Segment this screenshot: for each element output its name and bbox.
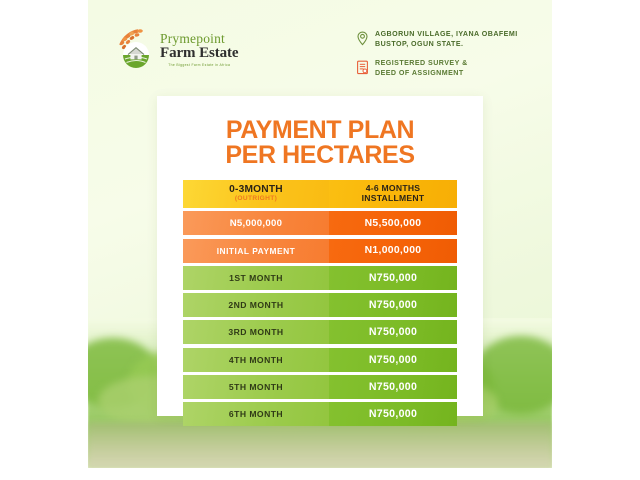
table-row: 1ST MONTHN750,000 <box>183 266 457 290</box>
location-line1: AGBORUN VILLAGE, IYANA OBAFEMI <box>375 30 518 40</box>
document-line1: REGISTERED SURVEY & <box>375 59 468 69</box>
page-title-line2: PER HECTARES <box>157 143 483 168</box>
row-value-cell: N750,000 <box>329 402 457 426</box>
location-text: AGBORUN VILLAGE, IYANA OBAFEMI BUSTOP, O… <box>375 30 518 49</box>
brand-logo-block: Prymepoint Farm Estate The Biggest Farm … <box>114 26 238 70</box>
header-outright-sub: (OUTRIGHT) <box>235 196 277 203</box>
header-cell-outright: 0-3MONTH (OUTRIGHT) <box>183 180 329 208</box>
poster-header: Prymepoint Farm Estate The Biggest Farm … <box>88 0 552 96</box>
contact-info-block: AGBORUN VILLAGE, IYANA OBAFEMI BUSTOP, O… <box>356 30 542 88</box>
row-label-cell: 3RD MONTH <box>183 320 329 344</box>
table-row: 5TH MONTHN750,000 <box>183 375 457 399</box>
farm-estate-logo-icon <box>114 26 158 70</box>
table-body: N5,000,000N5,500,000INITIAL PAYMENTN1,00… <box>183 211 457 426</box>
table-row: 2ND MONTHN750,000 <box>183 293 457 317</box>
page-title-line1: PAYMENT PLAN <box>226 116 414 144</box>
header-outright-main: 0-3MONTH <box>229 185 283 195</box>
row-label-cell: 4TH MONTH <box>183 348 329 372</box>
row-value-cell: N750,000 <box>329 293 457 317</box>
table-row: INITIAL PAYMENTN1,000,000 <box>183 239 457 263</box>
document-row: REGISTERED SURVEY & DEED OF ASSIGNMENT <box>356 59 542 78</box>
document-certificate-icon <box>356 60 369 75</box>
row-value-cell: N5,500,000 <box>329 211 457 235</box>
table-row: N5,000,000N5,500,000 <box>183 211 457 235</box>
row-label-cell: 6TH MONTH <box>183 402 329 426</box>
row-label-cell: N5,000,000 <box>183 211 329 235</box>
location-line2: BUSTOP, OGUN STATE. <box>375 40 518 50</box>
row-label-cell: INITIAL PAYMENT <box>183 239 329 263</box>
page-title: PAYMENT PLAN PER HECTARES <box>157 96 483 168</box>
payment-plan-card: PAYMENT PLAN PER HECTARES 0-3MONTH (OUTR… <box>157 96 483 416</box>
table-row: 6TH MONTHN750,000 <box>183 402 457 426</box>
location-row: AGBORUN VILLAGE, IYANA OBAFEMI BUSTOP, O… <box>356 30 542 49</box>
brand-tagline: The Biggest Farm Estate in Africa <box>160 63 238 67</box>
payment-plan-table: 0-3MONTH (OUTRIGHT) 4-6 MONTHS INSTALLME… <box>183 180 457 430</box>
row-value-cell: N750,000 <box>329 348 457 372</box>
payment-plan-poster: Prymepoint Farm Estate The Biggest Farm … <box>88 0 552 468</box>
table-header-row: 0-3MONTH (OUTRIGHT) 4-6 MONTHS INSTALLME… <box>183 180 457 208</box>
row-value-cell: N750,000 <box>329 375 457 399</box>
document-line2: DEED OF ASSIGNMENT <box>375 69 468 79</box>
header-installment-line2: INSTALLMENT <box>362 194 425 204</box>
row-label-cell: 1ST MONTH <box>183 266 329 290</box>
table-row: 3RD MONTHN750,000 <box>183 320 457 344</box>
brand-name-block: Prymepoint Farm Estate The Biggest Farm … <box>160 26 238 67</box>
row-value-cell: N1,000,000 <box>329 239 457 263</box>
table-row: 4TH MONTHN750,000 <box>183 348 457 372</box>
brand-name-line2: Farm Estate <box>160 45 238 61</box>
location-pin-icon <box>356 31 369 46</box>
brand-name-line1: Prymepoint <box>160 32 238 45</box>
row-label-cell: 5TH MONTH <box>183 375 329 399</box>
row-value-cell: N750,000 <box>329 266 457 290</box>
row-label-cell: 2ND MONTH <box>183 293 329 317</box>
document-text: REGISTERED SURVEY & DEED OF ASSIGNMENT <box>375 59 468 78</box>
header-cell-installment: 4-6 MONTHS INSTALLMENT <box>329 180 457 208</box>
row-value-cell: N750,000 <box>329 320 457 344</box>
